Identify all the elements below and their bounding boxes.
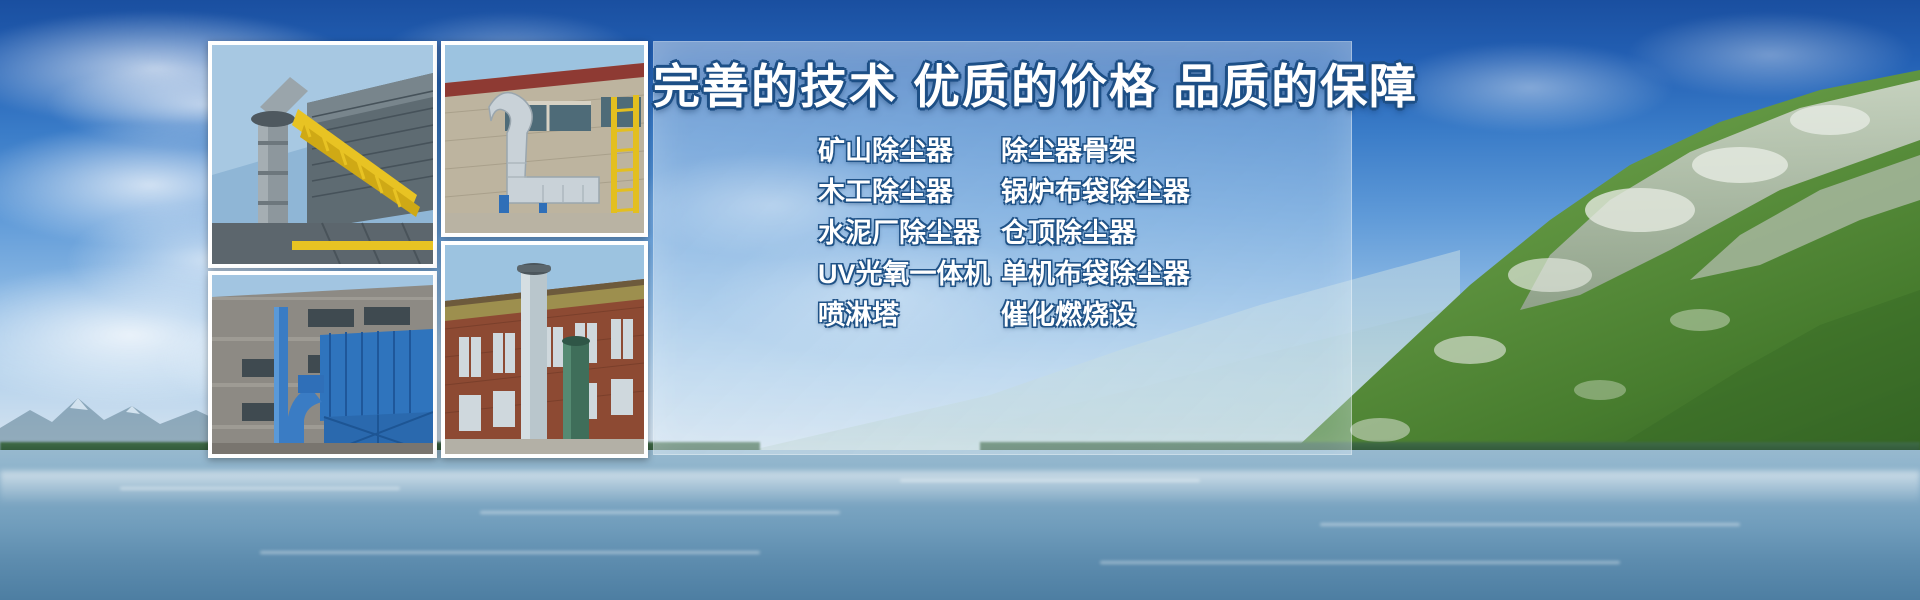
water-streak <box>1100 561 1620 564</box>
product-list: 矿山除尘器 除尘器骨架 木工除尘器 锅炉布袋除尘器 水泥厂除尘器 仓顶除尘器 U… <box>653 128 1353 333</box>
product-right: 仓顶除尘器 <box>1001 211 1136 250</box>
water-streak <box>480 511 840 514</box>
list-item[interactable]: 矿山除尘器 除尘器骨架 <box>653 128 1353 169</box>
product-right: 除尘器骨架 <box>1001 129 1136 168</box>
product-left: 木工除尘器 <box>818 170 1001 209</box>
water-streak <box>1320 523 1740 526</box>
collage-photo-workshop-ductwork <box>441 41 648 237</box>
product-right: 单机布袋除尘器 <box>1001 252 1190 291</box>
water-streak <box>120 487 400 490</box>
collage-photo-dust-collector-stack <box>208 41 437 268</box>
product-right: 催化燃烧设 <box>1001 293 1136 332</box>
product-left: UV光氧一体机 <box>818 252 1001 291</box>
list-item[interactable]: 水泥厂除尘器 仓顶除尘器 <box>653 210 1353 251</box>
product-right: 锅炉布袋除尘器 <box>1001 170 1190 209</box>
list-item[interactable]: 木工除尘器 锅炉布袋除尘器 <box>653 169 1353 210</box>
water-streak <box>260 551 760 554</box>
banner-root: 完善的技术 优质的价格 品质的保障 矿山除尘器 除尘器骨架 木工除尘器 锅炉布袋… <box>0 0 1920 600</box>
collage-photo-blue-baghouse <box>208 271 437 458</box>
product-left: 矿山除尘器 <box>818 129 1001 168</box>
page-title: 完善的技术 优质的价格 品质的保障 <box>653 58 1353 116</box>
product-left: 喷淋塔 <box>818 293 1001 332</box>
list-item[interactable]: UV光氧一体机 单机布袋除尘器 <box>653 251 1353 292</box>
collage-photo-brick-building-stack <box>441 241 648 458</box>
list-item[interactable]: 喷淋塔 催化燃烧设 <box>653 292 1353 333</box>
water-streak <box>900 479 1200 482</box>
product-left: 水泥厂除尘器 <box>818 211 1001 250</box>
